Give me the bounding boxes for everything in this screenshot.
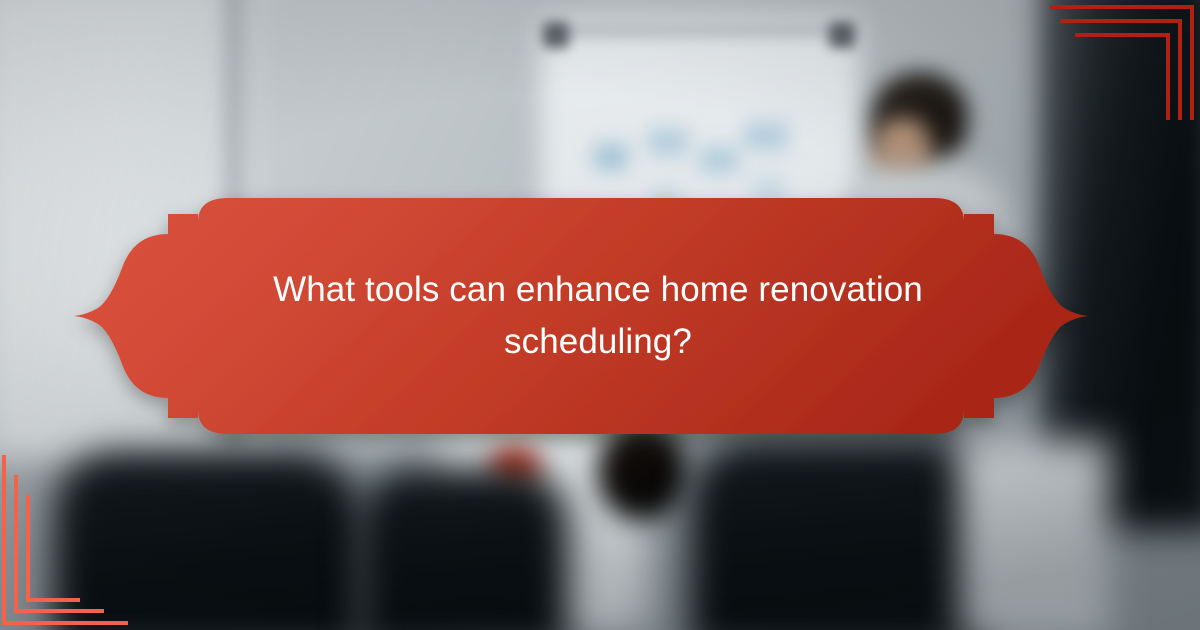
bracket-line-inner	[28, 495, 80, 600]
bottom-left-corner-bracket	[0, 455, 150, 630]
bracket-line-outer	[1050, 7, 1192, 120]
promo-card-canvas: What tools can enhance home renovation s…	[0, 0, 1200, 630]
bracket-line-inner	[1075, 35, 1168, 120]
top-right-bracket-lines	[1050, 0, 1200, 120]
bracket-line-outer	[4, 455, 128, 623]
question-card-shape	[98, 196, 1088, 436]
top-right-corner-bracket	[1050, 0, 1200, 120]
question-card: What tools can enhance home renovation s…	[98, 196, 1088, 436]
bottom-left-bracket-lines	[0, 455, 150, 630]
